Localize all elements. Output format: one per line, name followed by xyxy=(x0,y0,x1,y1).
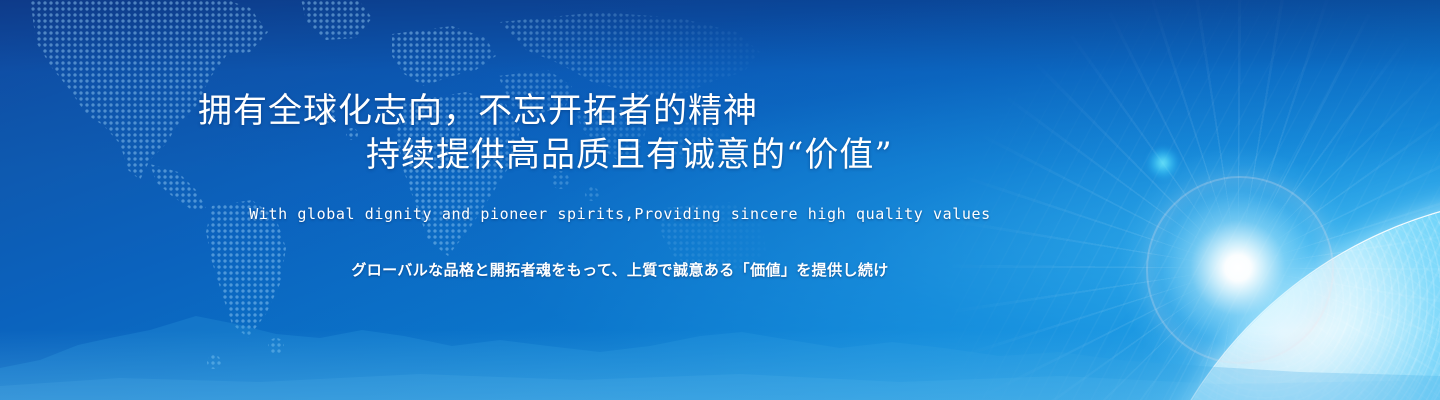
headline-line-1: 拥有全球化志向，不忘开拓者的精神 xyxy=(0,89,1298,133)
hero-banner: 拥有全球化志向，不忘开拓者的精神 持续提供高品质且有诚意的“价值” With g… xyxy=(0,0,1440,400)
headline-line-2: 持续提供高品质且有诚意的“价值” xyxy=(0,133,1440,177)
subtitle-english: With global dignity and pioneer spirits,… xyxy=(0,205,1440,223)
banner-copy: 拥有全球化志向，不忘开拓者的精神 持续提供高品质且有诚意的“价值” With g… xyxy=(0,0,1440,400)
subtitle-japanese: グローバルな品格と開拓者魂をもって、上質で誠意ある「価値」を提供し続け xyxy=(0,259,1440,280)
